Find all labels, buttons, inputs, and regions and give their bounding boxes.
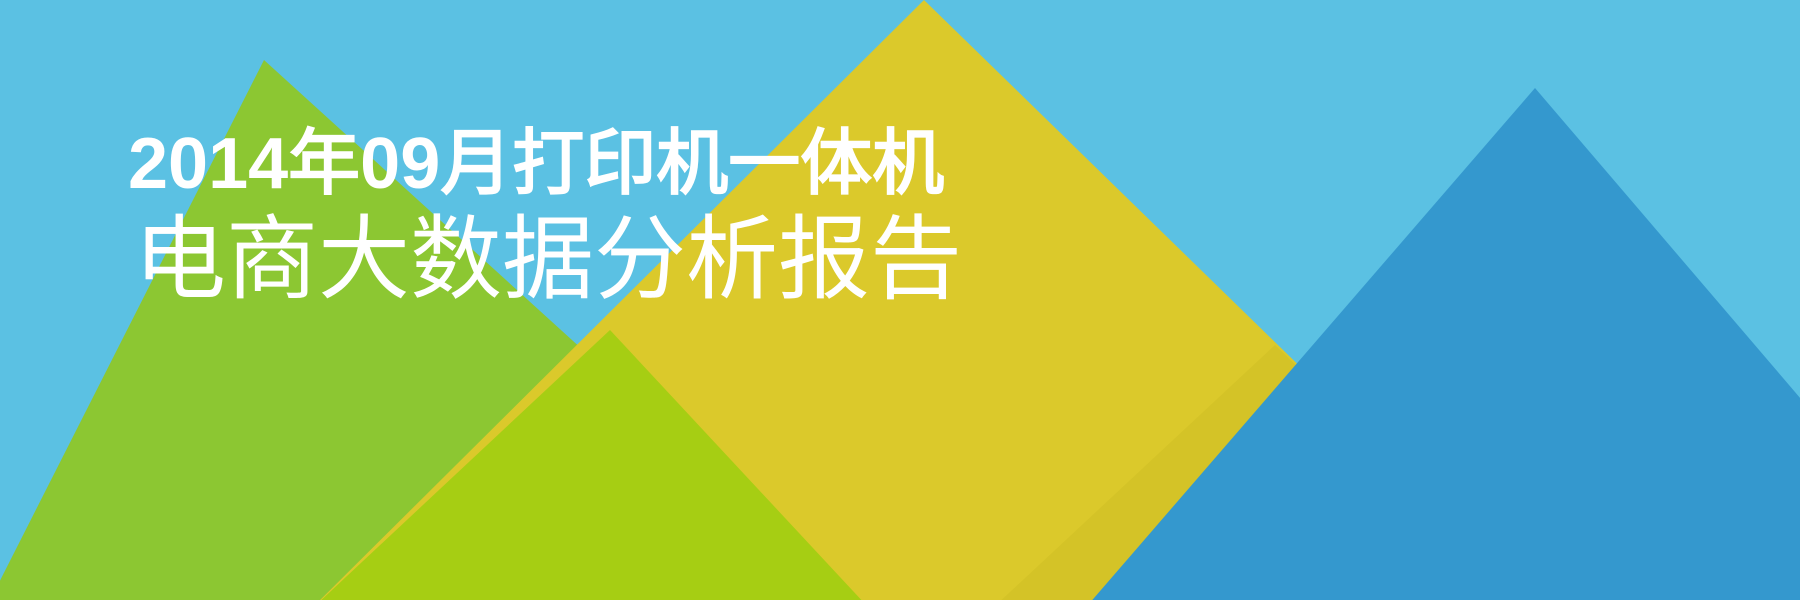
report-cover-banner: 2014年09月打印机一体机 电商大数据分析报告 — [0, 0, 1800, 600]
decorative-triangle-background — [0, 0, 1800, 600]
